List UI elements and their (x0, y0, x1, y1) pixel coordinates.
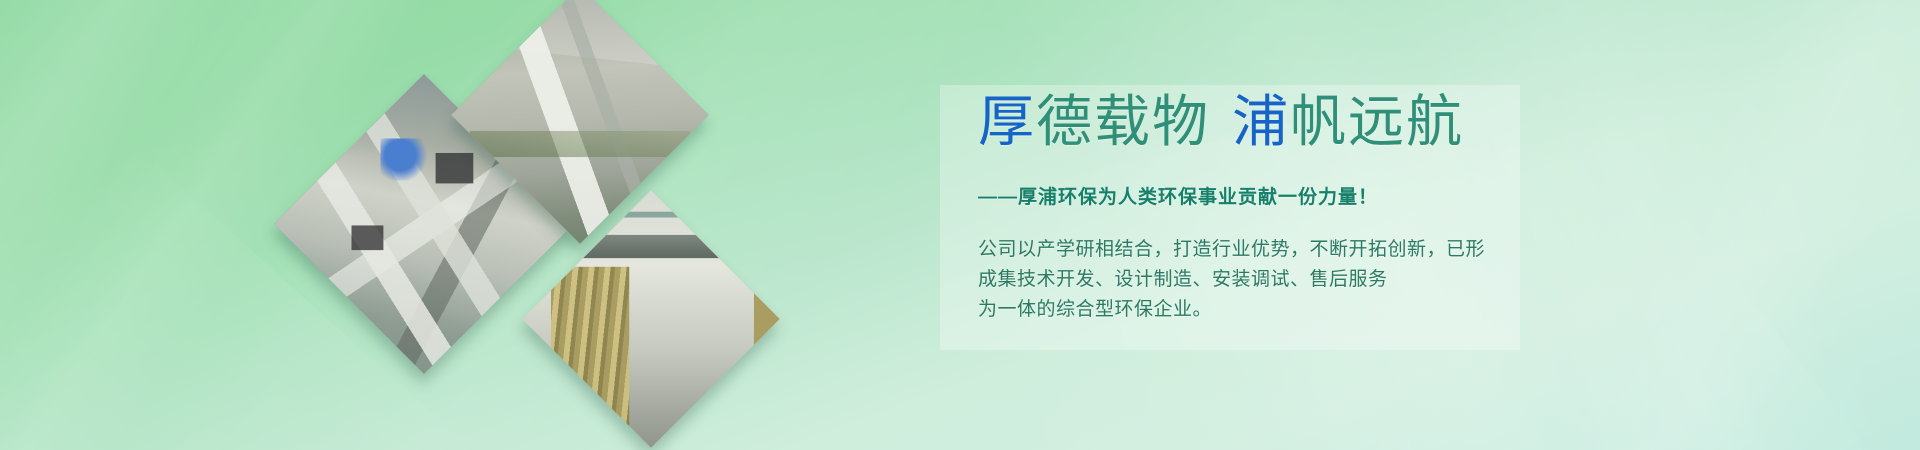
banner-headline: 厚德载物浦帆远航 (978, 95, 1464, 151)
body-line-2: 成集技术开发、设计制造、安装调试、售后服务 (978, 265, 1485, 295)
headline-segment-1: 厚 (978, 90, 1036, 155)
banner-body-text: 公司以产学研相结合，打造行业优势，不断开拓创新，已形 成集技术开发、设计制造、安… (978, 235, 1485, 325)
headline-segment-4: 帆远航 (1290, 90, 1464, 155)
photo-collage (0, 0, 860, 450)
banner-subtitle: ——厚浦环保为人类环保事业贡献一份力量！ (978, 182, 1378, 209)
body-line-3: 为一体的综合型环保企业。 (978, 295, 1485, 325)
body-line-1: 公司以产学研相结合，打造行业优势，不断开拓创新，已形 (978, 235, 1485, 265)
headline-segment-3: 浦 (1232, 90, 1290, 155)
company-banner: 厚德载物浦帆远航 ——厚浦环保为人类环保事业贡献一份力量！ 公司以产学研相结合，… (0, 0, 1920, 450)
headline-segment-2: 德载物 (1036, 90, 1210, 155)
